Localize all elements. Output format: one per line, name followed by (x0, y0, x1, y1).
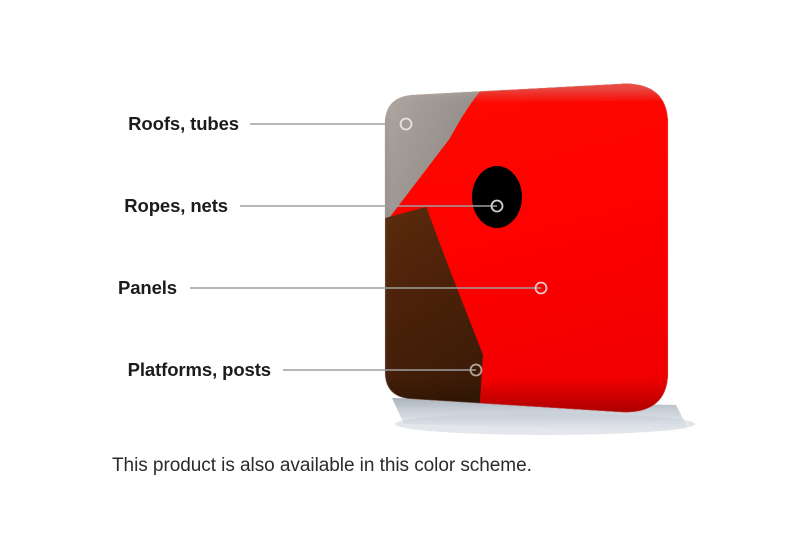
top-bevel-highlight (370, 70, 690, 104)
callout-label-panels: Panels (118, 277, 177, 299)
callout-label-platforms-posts: Platforms, posts (128, 359, 271, 381)
illustration-canvas: Roofs, tubes Ropes, nets Panels Platform… (0, 0, 800, 533)
caption-text: This product is also available in this c… (112, 455, 532, 477)
product-front-body (370, 70, 690, 430)
product-3d-illustration (0, 0, 800, 533)
callout-label-ropes-nets: Ropes, nets (124, 195, 228, 217)
callout-label-roofs-tubes: Roofs, tubes (128, 113, 239, 135)
black-circle-region (472, 166, 522, 228)
